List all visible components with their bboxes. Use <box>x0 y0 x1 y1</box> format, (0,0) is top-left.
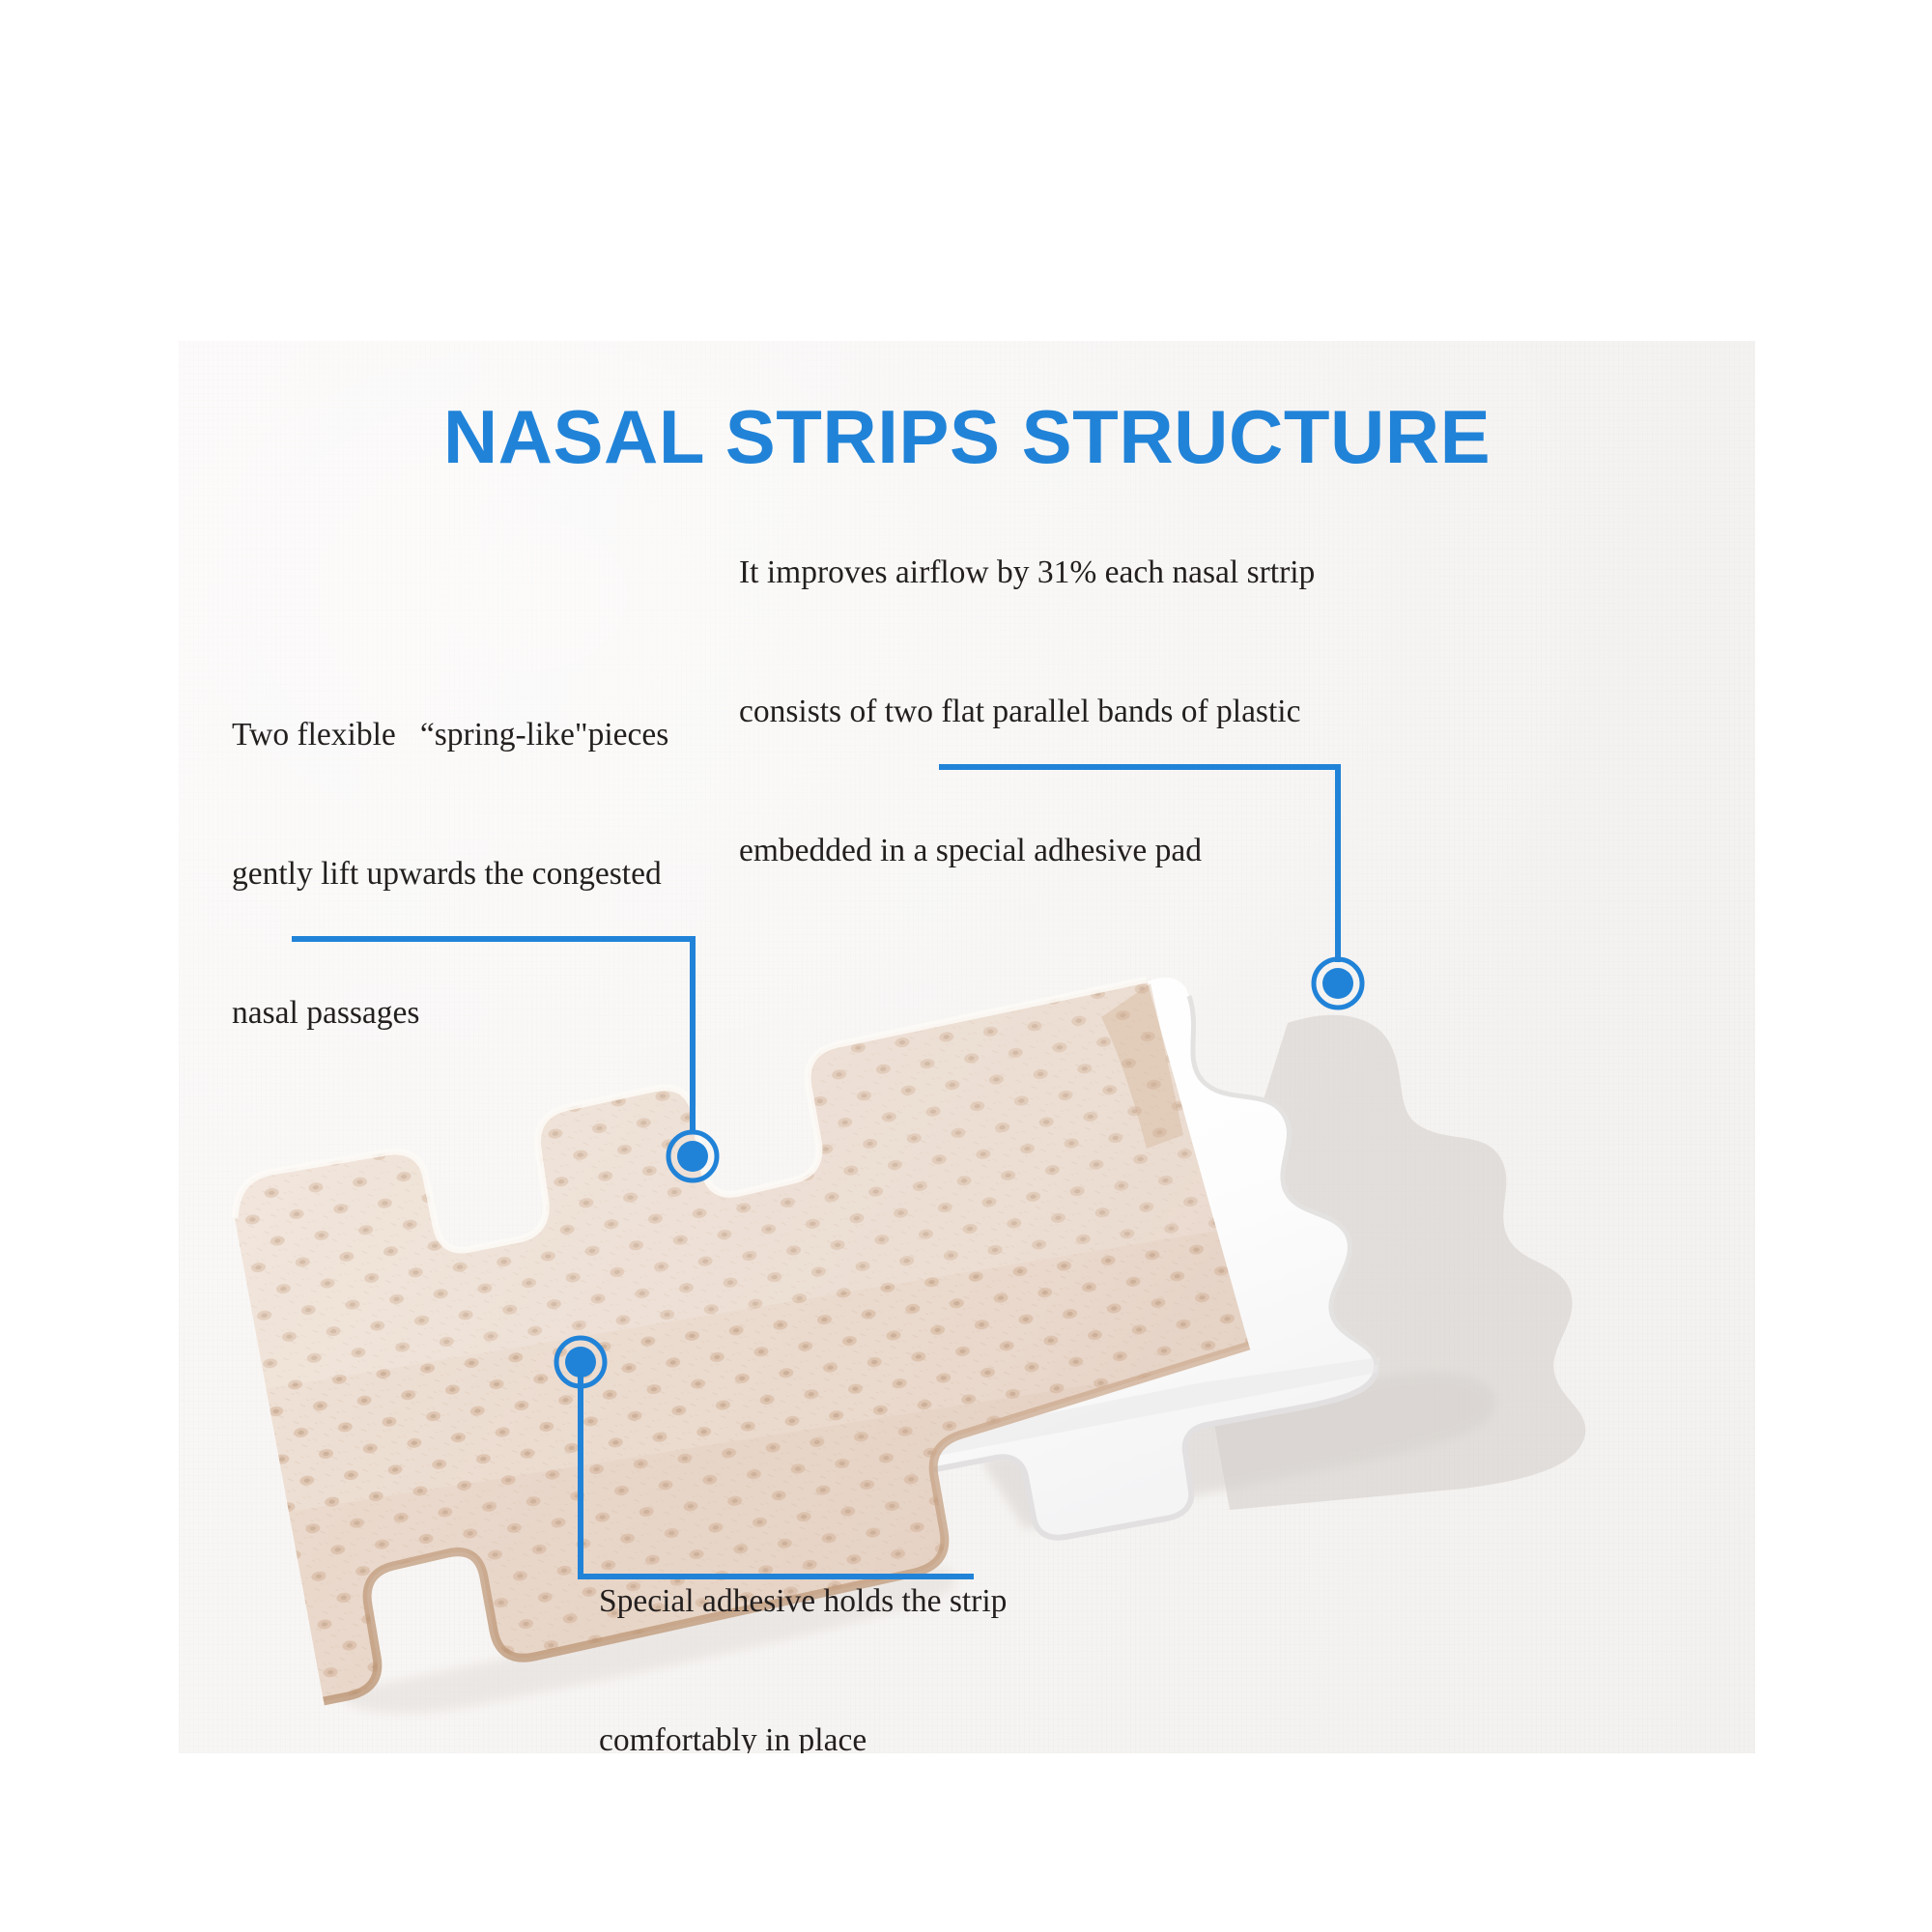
screenshot-root: NASAL STRIPS STRUCTURE <box>0 0 1932 1932</box>
callout-spring-text: Two flexible “spring-like"pieces gently … <box>232 619 668 1129</box>
callout-spring-line-3: nasal passages <box>232 990 668 1037</box>
callout-airflow-line-1: It improves airflow by 31% each nasal sr… <box>739 550 1315 596</box>
callout-adhesive-text: Special adhesive holds the strip comfort… <box>599 1486 1007 1753</box>
callout-airflow-line-2: consists of two flat parallel bands of p… <box>739 689 1315 735</box>
callout-airflow-text: It improves airflow by 31% each nasal sr… <box>739 457 1315 967</box>
callout-adhesive-line-1: Special adhesive holds the strip <box>599 1578 1007 1625</box>
product-infographic-card: NASAL STRIPS STRUCTURE <box>179 341 1755 1753</box>
callout-airflow-line-3: embedded in a special adhesive pad <box>739 828 1315 874</box>
callout-spring-line-2: gently lift upwards the congested <box>232 851 668 897</box>
callout-adhesive-line-2: comfortably in place <box>599 1718 1007 1753</box>
page-title: NASAL STRIPS STRUCTURE <box>179 393 1755 481</box>
callout-spring-line-1: Two flexible “spring-like"pieces <box>232 712 668 758</box>
